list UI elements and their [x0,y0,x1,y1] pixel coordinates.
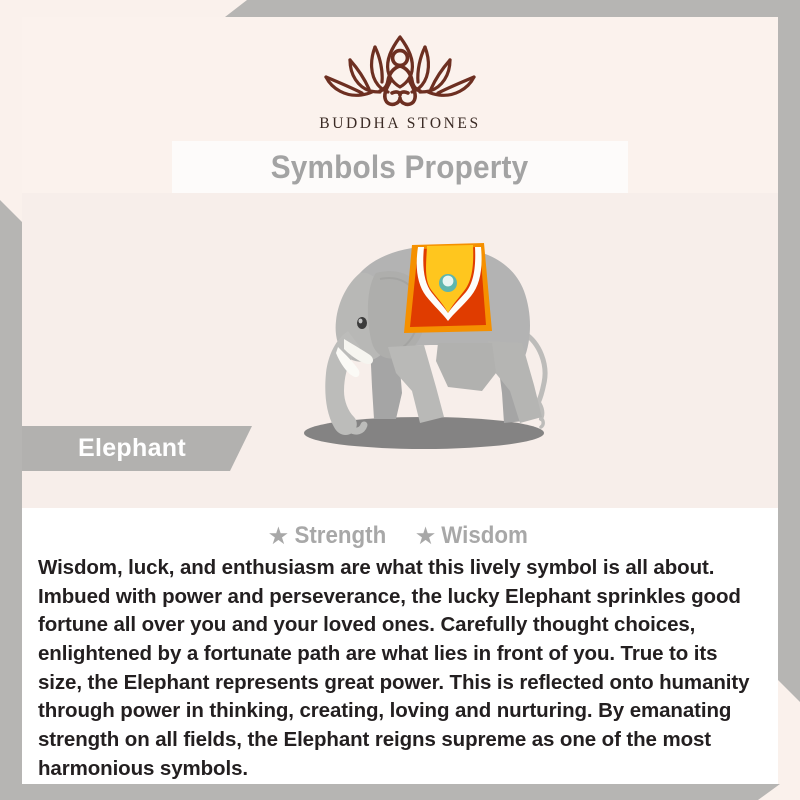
star-icon: ★ [269,525,288,548]
frame-bar-left [0,200,22,800]
frame-bar-top [225,0,800,17]
illustration-band: Elephant [22,193,778,508]
brand-name: BUDDHA STONES [300,115,500,133]
symbol-name-ribbon: Elephant [22,426,252,471]
brand-logo: BUDDHA STONES [300,27,500,133]
frame-bar-right [778,0,800,702]
symbol-description: Wisdom, luck, and enthusiasm are what th… [38,554,762,784]
attribute-item: ★Wisdom [416,522,531,550]
lotus-meditation-logo-icon [312,27,488,113]
star-icon: ★ [416,525,435,548]
page-title: Symbols Property [271,149,529,186]
walking-elephant-illustration-icon [252,221,592,471]
attribute-label: Wisdom [441,522,528,550]
description-panel: ★Strength ★Wisdom Wisdom, luck, and enth… [22,508,778,784]
frame-bar-bottom [0,784,780,800]
attribute-item: ★Strength [269,522,390,550]
attribute-list: ★Strength ★Wisdom [38,522,762,550]
attribute-label: Strength [294,522,386,550]
brand-header: BUDDHA STONES [22,17,778,141]
symbol-name: Elephant [78,434,186,463]
symbol-property-card: BUDDHA STONES Symbols Property [0,0,800,800]
title-band: Symbols Property [172,141,628,193]
card-canvas: BUDDHA STONES Symbols Property [22,17,778,784]
